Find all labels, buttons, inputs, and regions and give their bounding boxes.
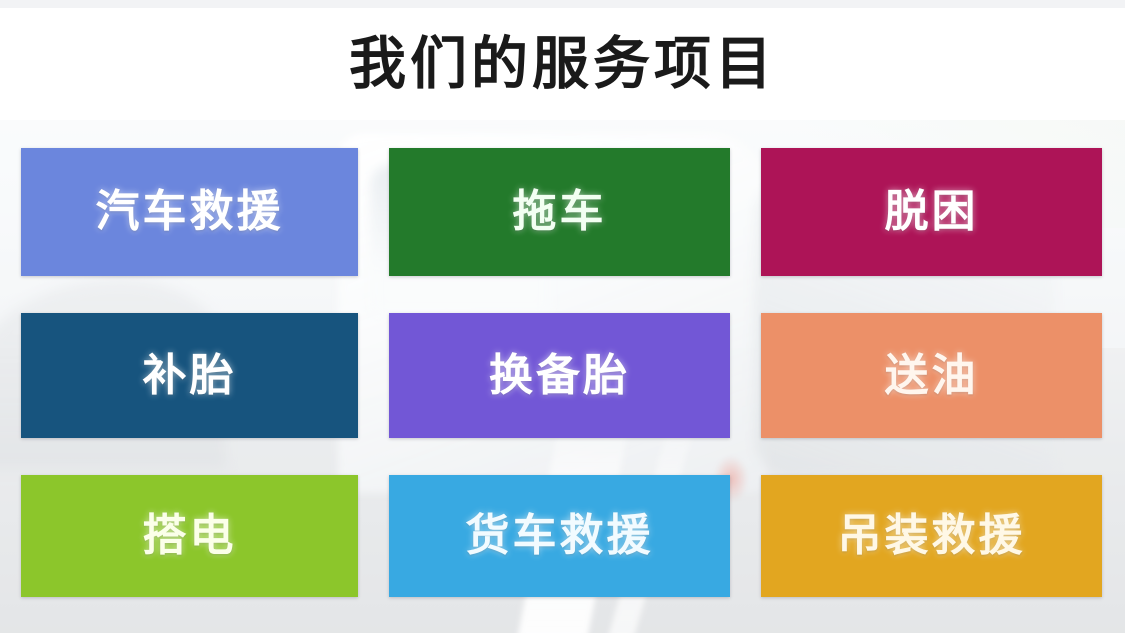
service-tile-label: 货车救援 <box>466 514 654 558</box>
service-tile-towing[interactable]: 拖车 <box>389 148 730 276</box>
service-tile-label: 脱困 <box>885 190 979 234</box>
service-tile-label: 吊装救援 <box>838 514 1026 558</box>
service-tile-jump-start[interactable]: 搭电 <box>21 475 358 597</box>
service-tile-extrication[interactable]: 脱困 <box>761 148 1102 276</box>
service-poster: 我们的服务项目 汽车救援 拖车 脱困 补胎 换备胎 送油 搭电 货车救援 吊装救… <box>0 0 1125 633</box>
service-tile-tire-repair[interactable]: 补胎 <box>21 313 358 438</box>
service-tile-label: 换备胎 <box>489 354 630 398</box>
title-band: 我们的服务项目 <box>0 8 1125 120</box>
service-tile-label: 汽车救援 <box>96 190 284 234</box>
service-tile-roadside-assistance[interactable]: 汽车救援 <box>21 148 358 276</box>
service-tile-label: 补胎 <box>143 354 237 398</box>
service-tile-spare-tire-change[interactable]: 换备胎 <box>389 313 730 438</box>
service-grid: 汽车救援 拖车 脱困 补胎 换备胎 送油 搭电 货车救援 吊装救援 <box>21 148 1102 598</box>
service-tile-label: 搭电 <box>143 514 237 558</box>
service-tile-fuel-delivery[interactable]: 送油 <box>761 313 1102 438</box>
service-tile-crane-lifting-rescue[interactable]: 吊装救援 <box>761 475 1102 597</box>
service-tile-truck-rescue[interactable]: 货车救援 <box>389 475 730 597</box>
page-title: 我们的服务项目 <box>349 36 776 93</box>
service-tile-label: 送油 <box>885 354 979 398</box>
top-strip <box>0 0 1125 8</box>
service-tile-label: 拖车 <box>513 190 607 234</box>
